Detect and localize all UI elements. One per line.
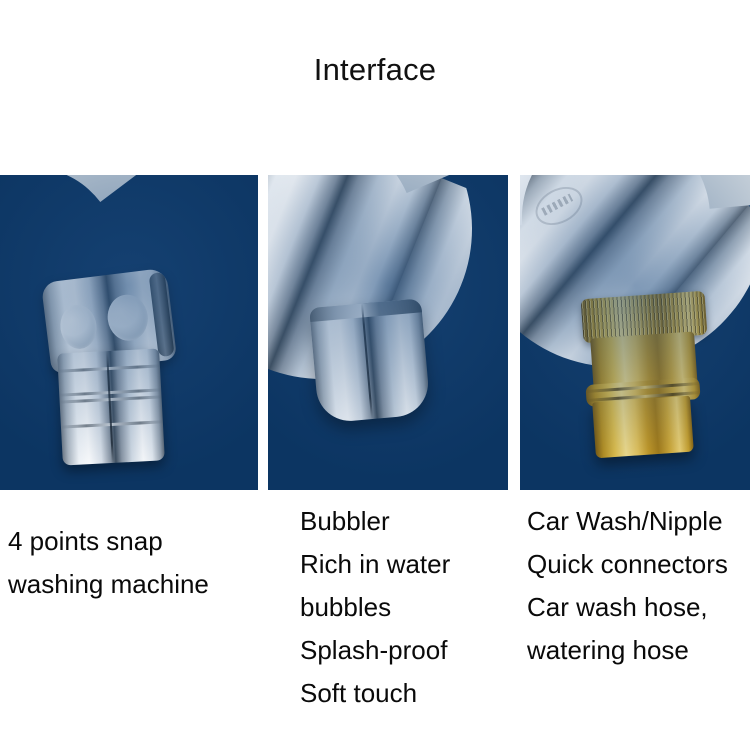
caption-line: Splash-proof <box>300 629 450 672</box>
caption-quick-connector: Car Wash/Nipple Quick connectors Car was… <box>527 500 728 672</box>
bubbler-aerator <box>309 298 431 423</box>
product-photo-quick-connector <box>520 175 750 490</box>
caption-line: watering hose <box>527 629 728 672</box>
caption-line: Car Wash/Nipple <box>527 500 728 543</box>
caption-line: Rich in water <box>300 543 450 586</box>
snap-button-right-icon <box>105 292 150 343</box>
caption-line: Quick connectors <box>527 543 728 586</box>
caption-bubbler: Bubbler Rich in water bubbles Splash-pro… <box>300 500 450 715</box>
caption-line: 4 points snap <box>8 520 209 563</box>
product-photo-bubbler <box>268 175 508 490</box>
product-feature-image: Interface <box>0 0 750 750</box>
page-title: Interface <box>0 52 750 88</box>
caption-line: Soft touch <box>300 672 450 715</box>
caption-snap-connector: 4 points snap washing machine <box>8 520 209 606</box>
caption-line: bubbles <box>300 586 450 629</box>
caption-line: Car wash hose, <box>527 586 728 629</box>
panel-strip <box>0 175 750 490</box>
product-photo-snap-connector <box>0 175 258 490</box>
ribbed-nozzle <box>57 348 165 465</box>
aerator-seam <box>361 303 373 419</box>
caption-line: Bubbler <box>300 500 450 543</box>
caption-line: washing machine <box>8 563 209 606</box>
snap-button-left-icon <box>58 303 99 351</box>
brass-nipple-tip <box>592 396 694 459</box>
